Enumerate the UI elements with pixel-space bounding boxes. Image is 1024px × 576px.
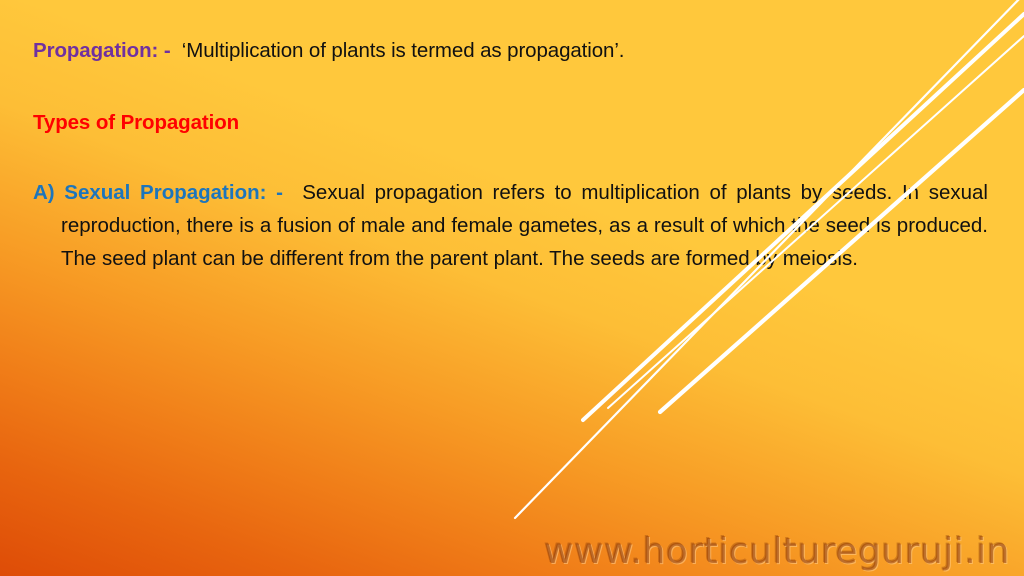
paragraph-types-of-propagation: Types of Propagation: [33, 112, 239, 134]
paragraph-sexual-propagation: A) Sexual Propagation: - Sexual propagat…: [33, 176, 988, 276]
types-of-propagation-heading: Types of Propagation: [33, 111, 239, 134]
sexual-propagation-heading: A) Sexual Propagation:: [33, 181, 266, 204]
propagation-dash: -: [164, 39, 171, 62]
slide-canvas: Propagation: - ‘Multiplication of plants…: [0, 0, 1024, 576]
sexual-propagation-dash: -: [276, 181, 283, 204]
propagation-heading: Propagation:: [33, 39, 158, 62]
site-watermark: www.horticultureguruji.in: [544, 531, 1010, 572]
propagation-definition-text: ‘Multiplication of plants is termed as p…: [182, 39, 625, 62]
diagonal-streaks-decoration: [0, 0, 1024, 576]
paragraph-propagation: Propagation: - ‘Multiplication of plants…: [33, 40, 624, 62]
